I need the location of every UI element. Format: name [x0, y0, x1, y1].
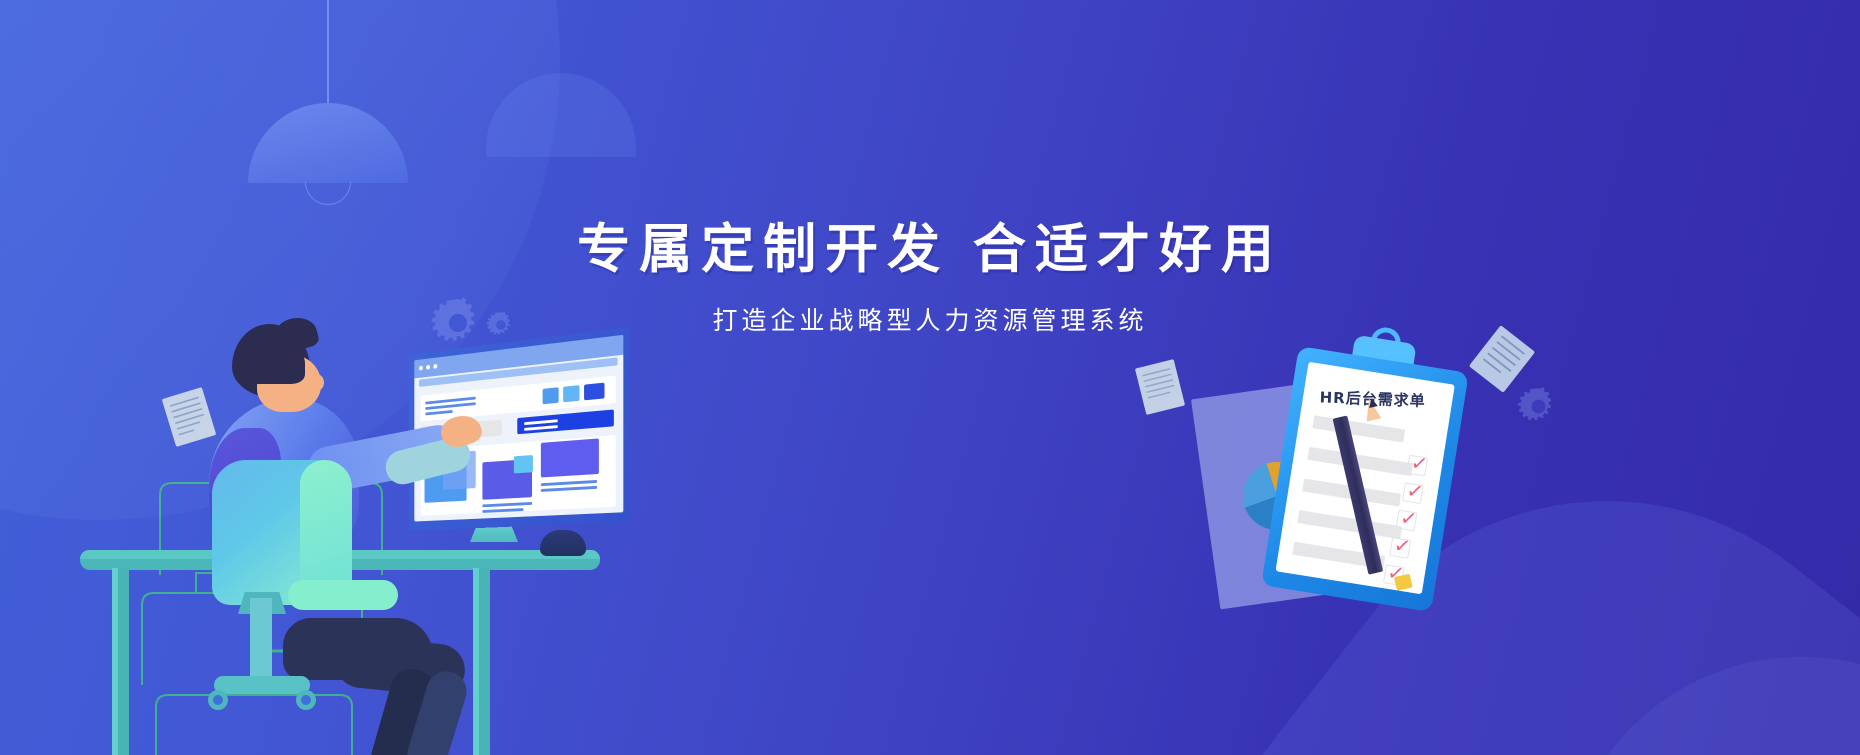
check-icon: ✓ [1399, 508, 1419, 530]
person-ear [309, 374, 324, 391]
chair-wheel [208, 690, 228, 710]
checkbox[interactable]: ✓ [1406, 455, 1428, 477]
check-icon: ✓ [1405, 481, 1425, 503]
mockup-tile-badge [514, 455, 533, 473]
chair-post [250, 598, 272, 682]
mockup-tile [541, 438, 599, 477]
mockup-chip [543, 387, 559, 404]
mockup-chip [563, 385, 579, 402]
hero-banner: 专属定制开发 合适才好用 打造企业战略型人力资源管理系统 HR后台需求单 ✓ ✓… [0, 0, 1860, 755]
checkbox[interactable]: ✓ [1402, 482, 1424, 504]
mockup-primary-button [517, 409, 614, 434]
checklist-row [1297, 510, 1402, 539]
computer-mouse-icon [540, 530, 586, 556]
chair-seat [288, 580, 398, 610]
desk-leg-left-highlight [112, 568, 118, 755]
mockup-chip [584, 383, 604, 401]
person-hair-front [241, 340, 305, 384]
checkbox[interactable]: ✓ [1389, 537, 1411, 559]
checklist-row [1312, 415, 1405, 442]
page-subtitle: 打造企业战略型人力资源管理系统 [0, 301, 1860, 337]
page-title: 专属定制开发 合适才好用 [0, 207, 1860, 283]
hero-text-block: 专属定制开发 合适才好用 打造企业战略型人力资源管理系统 [0, 207, 1860, 337]
clipboard: HR后台需求单 ✓ ✓ ✓ ✓ ✓ [1261, 346, 1469, 612]
document-icon-center [1135, 359, 1185, 415]
chair-wheel [296, 690, 316, 710]
lamp-wire-icon [327, 0, 329, 103]
clipboard-illustration: HR后台需求单 ✓ ✓ ✓ ✓ ✓ [1195, 330, 1515, 630]
chair-base [214, 676, 310, 694]
gear-icon-right [1517, 385, 1560, 428]
check-icon: ✓ [1410, 453, 1430, 475]
checkbox[interactable]: ✓ [1396, 510, 1418, 532]
check-icon: ✓ [1392, 535, 1412, 557]
